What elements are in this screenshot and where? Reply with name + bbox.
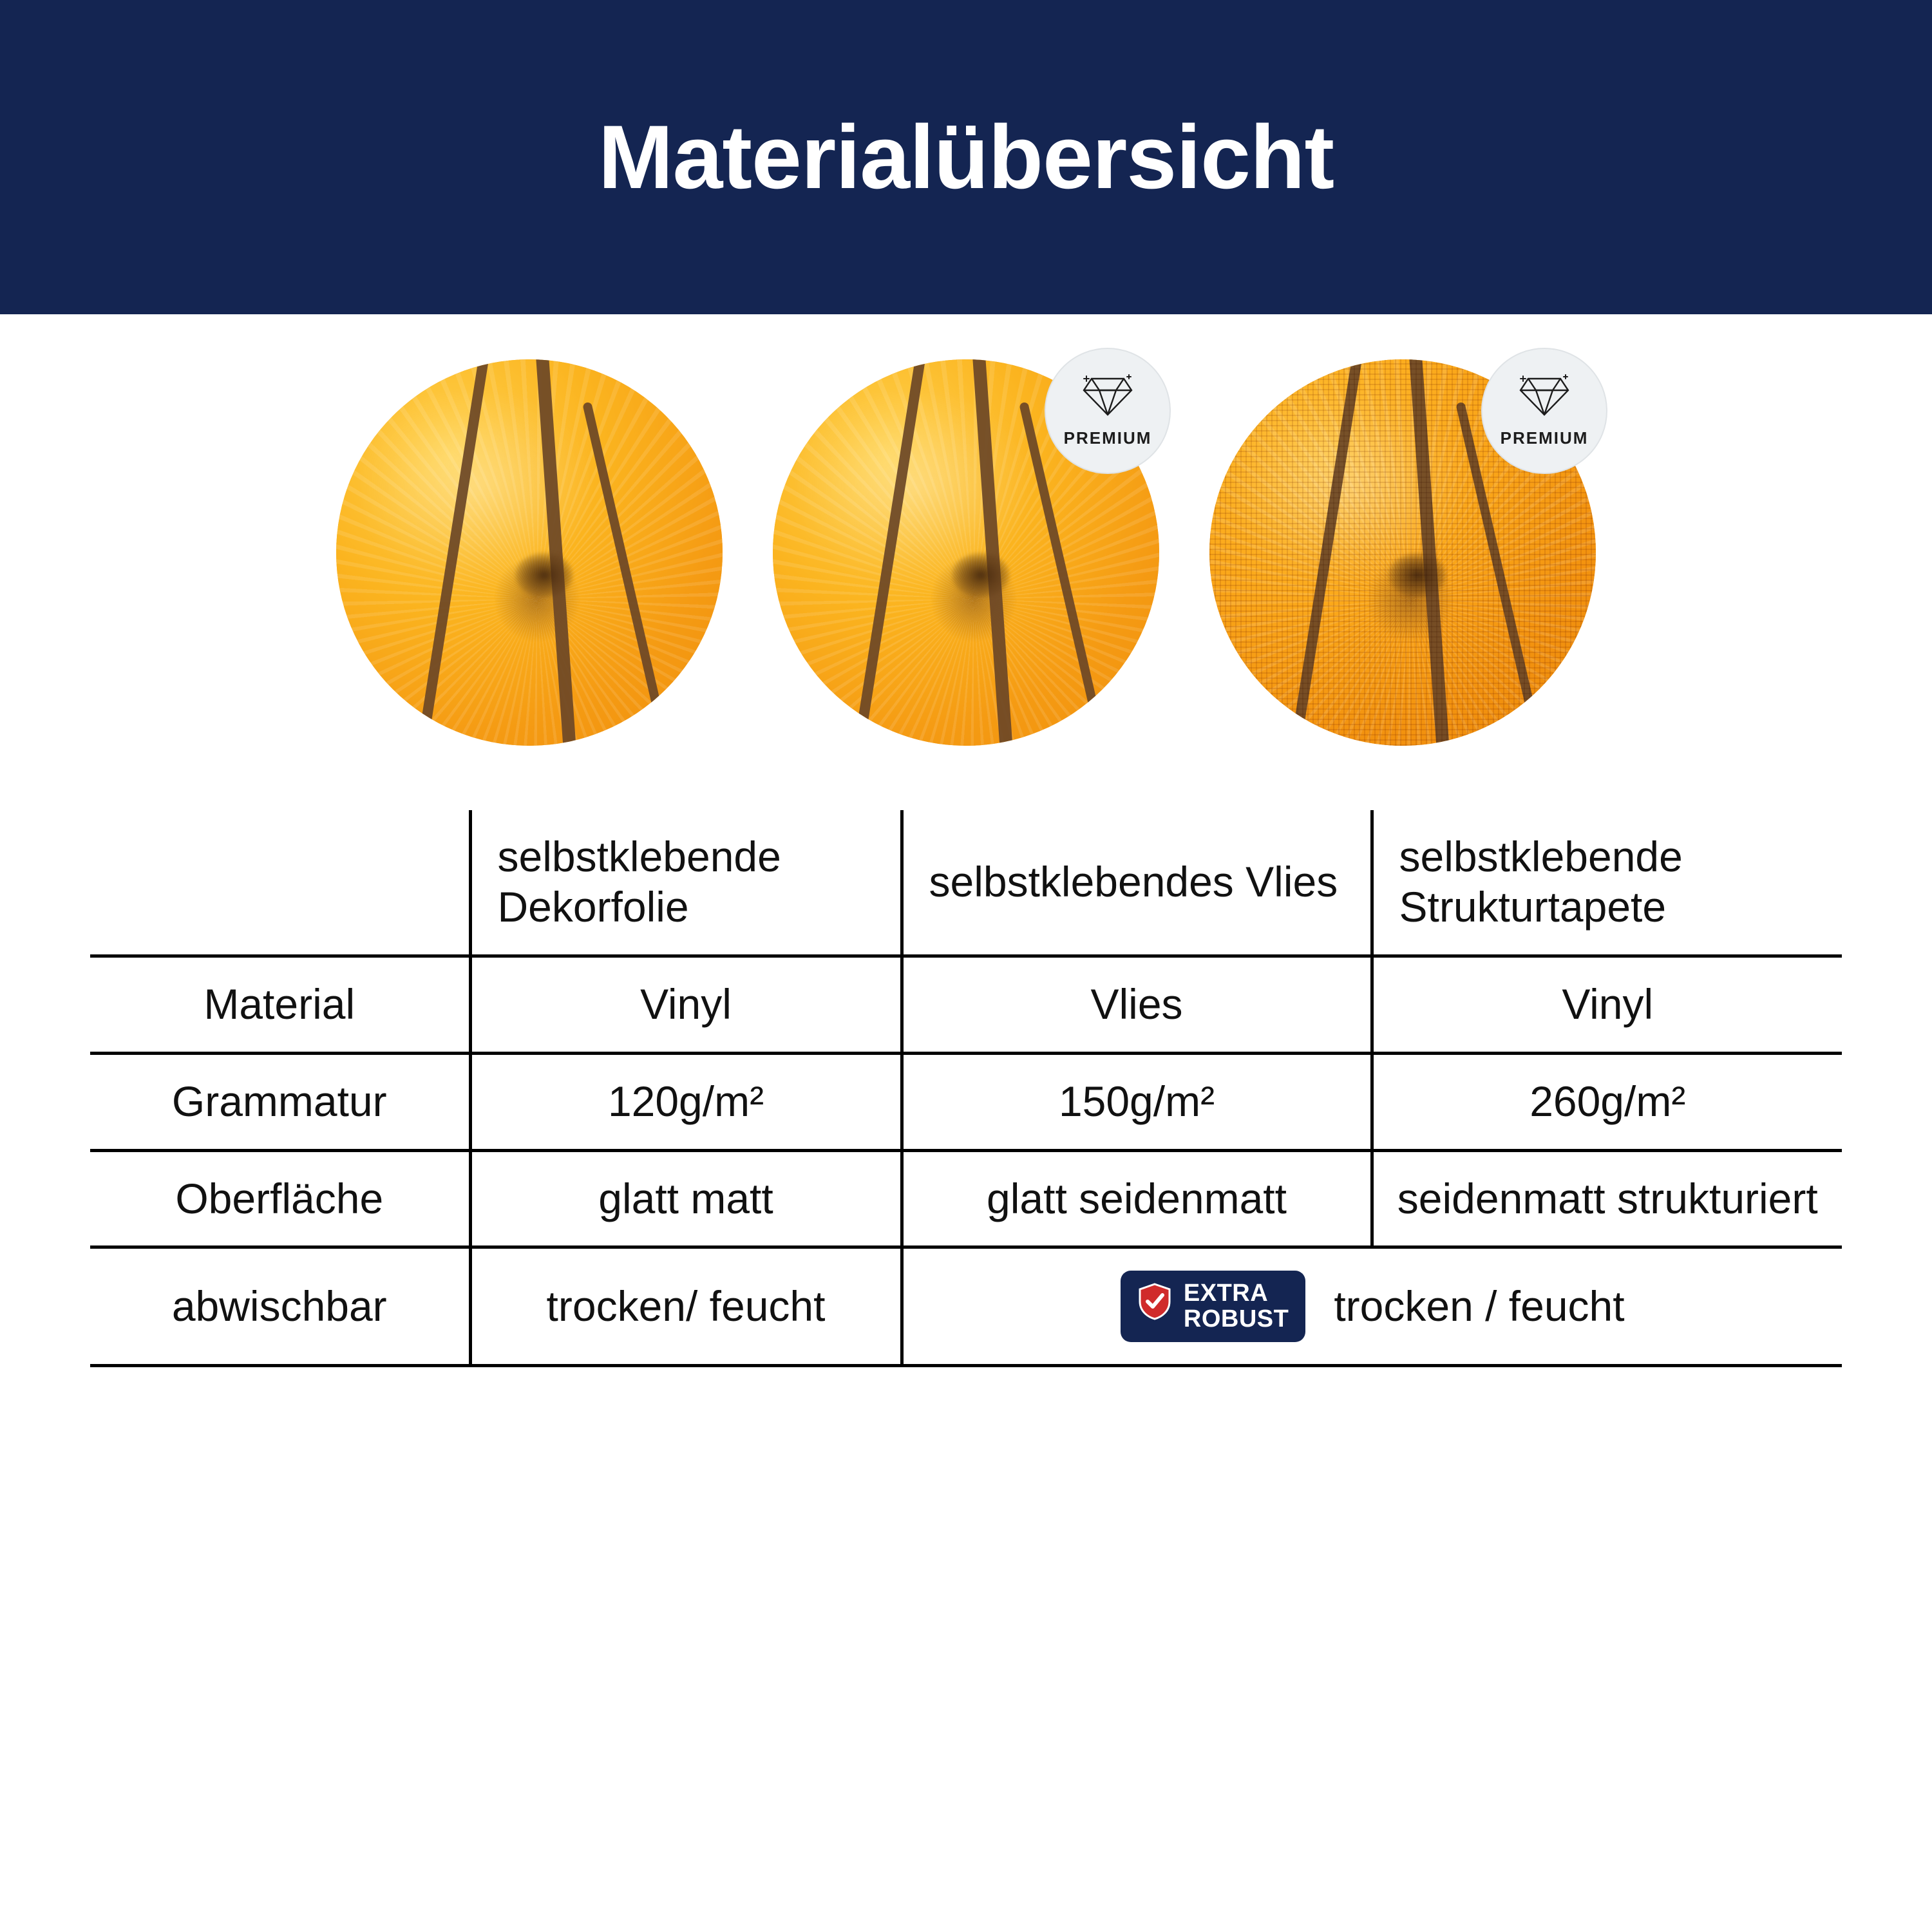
extra-robust-text: EXTRA ROBUST <box>1184 1281 1289 1332</box>
cell-oberflaeche-vlies: glatt seidenmatt <box>902 1150 1372 1247</box>
cell-abwischbar-dekorfolie: trocken/ feucht <box>470 1247 902 1366</box>
cell-material-dekorfolie: Vinyl <box>470 956 902 1053</box>
sample-dekorfolie <box>336 359 723 746</box>
dandelion-seedhead <box>952 553 1010 598</box>
bottom-border-cell <box>1372 1366 1842 1368</box>
cell-abwischbar-vlies-strukturtapete: EXTRA ROBUST trocken / feucht <box>902 1247 1842 1366</box>
diamond-icon <box>1517 374 1572 422</box>
cell-oberflaeche-dekorfolie: glatt matt <box>470 1150 902 1247</box>
abwischbar-value-text: trocken / feucht <box>1334 1282 1624 1332</box>
table-row: Oberfläche glatt matt glatt seidenmatt s… <box>90 1150 1842 1247</box>
sample-strukturtapete: PREMIUM <box>1209 359 1596 746</box>
row-label-abwischbar: abwischbar <box>90 1247 470 1366</box>
extra-robust-line1: EXTRA <box>1184 1280 1268 1307</box>
spec-table: selbstklebende Dekorfolie selbstklebende… <box>90 810 1842 1367</box>
material-samples-row: PREMIUM <box>0 314 1932 765</box>
extra-robust-badge: EXTRA ROBUST <box>1121 1271 1305 1342</box>
cell-grammatur-dekorfolie: 120g/m² <box>470 1053 902 1150</box>
page-header: Materialübersicht <box>0 0 1932 314</box>
premium-badge: PREMIUM <box>1481 348 1607 474</box>
extra-robust-line2: ROBUST <box>1184 1305 1289 1332</box>
cell-material-vlies: Vlies <box>902 956 1372 1053</box>
table-header-row: selbstklebende Dekorfolie selbstklebende… <box>90 810 1842 956</box>
cell-grammatur-strukturtapete: 260g/m² <box>1372 1053 1842 1150</box>
header-label-vlies: selbstklebendes Vlies <box>913 857 1361 907</box>
row-label-grammatur: Grammatur <box>90 1053 470 1150</box>
sample-vlies: PREMIUM <box>773 359 1159 746</box>
row-label-material: Material <box>90 956 470 1053</box>
header-cell-empty <box>90 810 470 956</box>
table-row: Grammatur 120g/m² 150g/m² 260g/m² <box>90 1053 1842 1150</box>
row-label-oberflaeche: Oberfläche <box>90 1150 470 1247</box>
header-cell-vlies: selbstklebendes Vlies <box>902 810 1372 956</box>
header-label-dekorfolie: selbstklebende Dekorfolie <box>481 832 891 933</box>
header-cell-strukturtapete: selbstklebende Strukturtapete <box>1372 810 1842 956</box>
bottom-border-cell <box>902 1366 1372 1368</box>
table-row: abwischbar trocken/ feucht <box>90 1247 1842 1366</box>
wipe-cell-content: EXTRA ROBUST trocken / feucht <box>913 1271 1833 1342</box>
cell-grammatur-vlies: 150g/m² <box>902 1053 1372 1150</box>
premium-badge-label: PREMIUM <box>1064 428 1152 448</box>
bottom-border-cell <box>90 1366 470 1368</box>
premium-badge-label: PREMIUM <box>1501 428 1589 448</box>
header-label-strukturtapete: selbstklebende Strukturtapete <box>1383 832 1833 933</box>
page-title: Materialübersicht <box>598 112 1334 202</box>
dandelion-seedhead <box>515 553 573 598</box>
cell-oberflaeche-strukturtapete: seidenmatt strukturiert <box>1372 1150 1842 1247</box>
bottom-border-cell <box>470 1366 902 1368</box>
header-cell-dekorfolie: selbstklebende Dekorfolie <box>470 810 902 956</box>
swatch-dekorfolie-image <box>336 359 723 746</box>
premium-badge: PREMIUM <box>1045 348 1171 474</box>
table-bottom-border-row <box>90 1366 1842 1368</box>
diamond-icon <box>1080 374 1135 422</box>
spec-table-wrapper: selbstklebende Dekorfolie selbstklebende… <box>0 810 1932 1367</box>
table-row: Material Vinyl Vlies Vinyl <box>90 956 1842 1053</box>
cell-material-strukturtapete: Vinyl <box>1372 956 1842 1053</box>
shield-check-icon <box>1137 1282 1172 1332</box>
